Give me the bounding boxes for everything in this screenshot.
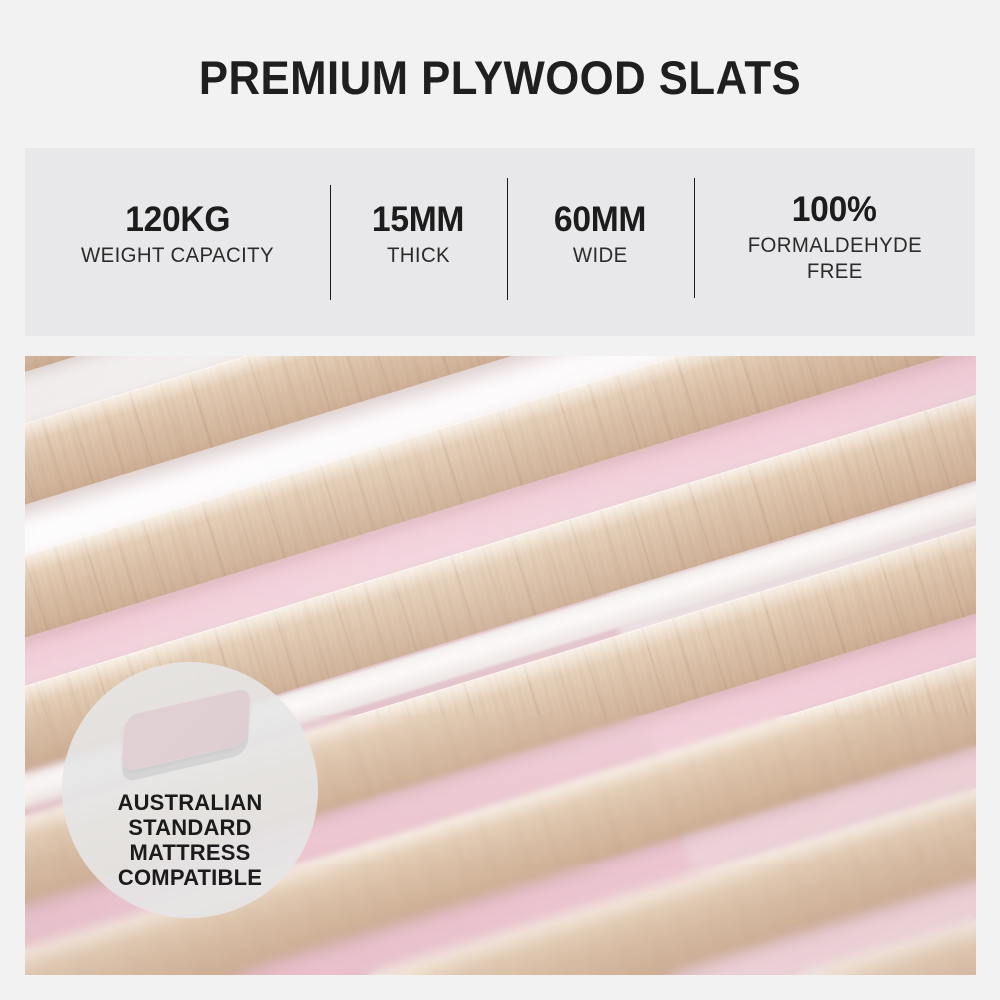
badge-line-2: STANDARD — [118, 815, 263, 840]
spec-label: WEIGHT CAPACITY — [81, 243, 274, 269]
spec-item-weight-capacity: 120KG WEIGHT CAPACITY — [25, 148, 330, 336]
spec-item-formaldehyde-free: 100% FORMALDEHYDE FREE — [694, 148, 975, 336]
spec-label-line-1: FORMALDEHYDE — [747, 233, 921, 259]
badge-line-4: COMPATIBLE — [118, 865, 263, 890]
spec-label-line-2: FREE — [807, 259, 863, 285]
spec-bar: 120KG WEIGHT CAPACITY 15MM THICK 60MM WI… — [25, 148, 975, 336]
spec-label: WIDE — [573, 243, 628, 269]
compatibility-badge: AUSTRALIAN STANDARD MATTRESS COMPATIBLE — [62, 662, 318, 918]
page-title: PREMIUM PLYWOOD SLATS — [35, 50, 965, 106]
spec-label: THICK — [387, 243, 450, 269]
spec-divider — [330, 185, 331, 300]
spec-item-thickness: 15MM THICK — [330, 148, 507, 336]
mattress-icon — [115, 688, 265, 780]
product-photo: AUSTRALIAN STANDARD MATTRESS COMPATIBLE — [25, 356, 976, 975]
badge-text: AUSTRALIAN STANDARD MATTRESS COMPATIBLE — [118, 790, 263, 890]
spec-value: 120KG — [125, 200, 230, 240]
product-infographic: PREMIUM PLYWOOD SLATS 120KG WEIGHT CAPAC… — [0, 0, 1000, 1000]
spec-divider — [694, 178, 695, 298]
spec-value: 15MM — [372, 200, 464, 240]
spec-value: 100% — [792, 190, 877, 230]
spec-value: 60MM — [554, 200, 646, 240]
spec-divider — [507, 178, 508, 300]
badge-line-3: MATTRESS — [118, 840, 263, 865]
spec-item-width: 60MM WIDE — [507, 148, 694, 336]
badge-line-1: AUSTRALIAN — [118, 790, 263, 815]
